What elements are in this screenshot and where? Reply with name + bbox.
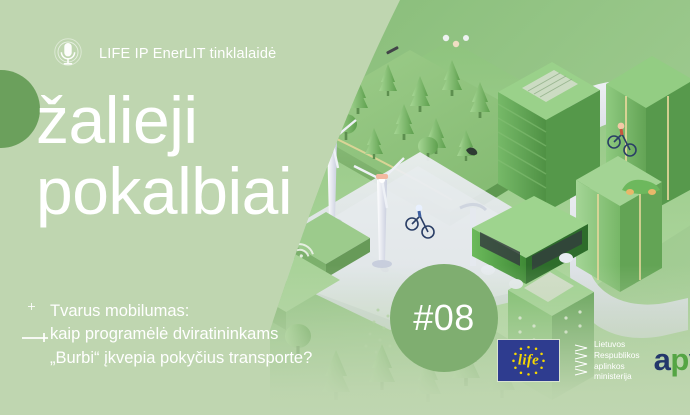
ministry-wave-icon [574, 343, 589, 379]
podcast-header: LIFE IP EnerLIT tinklalaidė [50, 36, 276, 72]
decorative-dash [22, 337, 39, 339]
ministry-line-3: aplinkos [594, 361, 640, 372]
ministry-line-2: Respublikos [594, 350, 640, 361]
episode-number-badge: #08 [390, 264, 498, 372]
podcast-microphone-icon [50, 36, 86, 72]
title-line-2: pokalbiai [36, 159, 292, 224]
episode-number-label: #08 [413, 300, 475, 336]
logo-strip: life Lietuvos Respublikos aplinkos minis… [497, 339, 690, 382]
podcast-series-label: LIFE IP EnerLIT tinklalaidė [99, 46, 276, 62]
title-line-1: žalieji [36, 88, 292, 153]
podcast-episode-cover: LIFE IP EnerLIT tinklalaidė žalieji poka… [0, 0, 690, 415]
ministry-name: Lietuvos Respublikos aplinkos ministerij… [594, 339, 640, 382]
subtitle-line-1: Tvarus mobilumas: [50, 300, 312, 323]
life-eu-programme-logo: life [497, 339, 560, 382]
apva-letter-a: a [654, 342, 671, 377]
life-wordmark: life [498, 352, 559, 369]
episode-subtitle: Tvarus mobilumas: kaip programėlė dvirat… [50, 300, 312, 370]
subtitle-line-2: kaip programėlė dviratininkams [50, 323, 312, 346]
apva-letter-p-leaf: p [670, 342, 688, 377]
page-title: žalieji pokalbiai [36, 88, 292, 223]
ministry-line-4: ministerija [594, 371, 640, 382]
apva-logo: apv [654, 344, 690, 375]
lietuvos-respublikos-aplinkos-ministerija-logo: Lietuvos Respublikos aplinkos ministerij… [574, 339, 640, 382]
decorative-accent-circle [0, 70, 40, 148]
subtitle-line-3: „Burbi“ įkvepia pokyčius transporte? [50, 347, 312, 370]
decorative-plus2-vertical [31, 303, 32, 310]
ministry-line-1: Lietuvos [594, 339, 640, 350]
decorative-plus-vertical [43, 333, 45, 342]
